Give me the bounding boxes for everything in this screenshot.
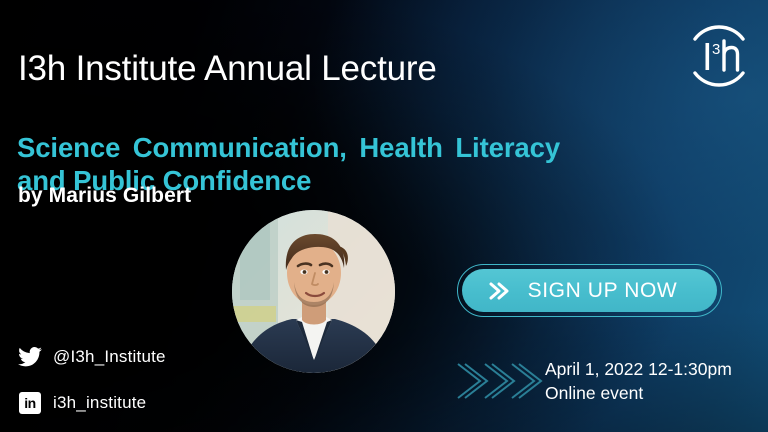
event-details: April 1, 2022 12-1:30pm Online event bbox=[545, 358, 732, 406]
event-date-time: April 1, 2022 12-1:30pm bbox=[545, 358, 732, 382]
subtitle-line-1: Science Communication, Health Literacy bbox=[17, 131, 677, 165]
sign-up-button[interactable]: SIGN UP NOW bbox=[462, 269, 717, 312]
speaker-byline: by Marius Gilbert bbox=[18, 184, 191, 208]
twitter-handle: @I3h_Institute bbox=[53, 347, 166, 367]
linkedin-badge-label: in bbox=[24, 396, 35, 410]
twitter-bird-icon bbox=[17, 344, 43, 370]
linkedin-badge: in bbox=[19, 392, 41, 414]
event-promo-poster: 3 I3h Institute Annual Lecture Science C… bbox=[0, 0, 768, 432]
triple-chevron-right-icon bbox=[455, 357, 545, 405]
social-link-twitter[interactable]: @I3h_Institute bbox=[17, 340, 166, 374]
social-link-linkedin[interactable]: in i3h_institute bbox=[17, 386, 166, 420]
i3h-institute-logo: 3 bbox=[679, 16, 759, 96]
event-format: Online event bbox=[545, 382, 732, 406]
sign-up-cta[interactable]: SIGN UP NOW bbox=[457, 264, 722, 317]
linkedin-icon: in bbox=[17, 390, 43, 416]
linkedin-handle: i3h_institute bbox=[53, 393, 146, 413]
svg-text:3: 3 bbox=[712, 41, 720, 58]
page-title: I3h Institute Annual Lecture bbox=[18, 50, 437, 89]
social-links: @I3h_Institute in i3h_institute bbox=[17, 340, 166, 432]
double-chevron-right-icon bbox=[486, 278, 512, 304]
speaker-portrait-avatar bbox=[232, 210, 395, 373]
